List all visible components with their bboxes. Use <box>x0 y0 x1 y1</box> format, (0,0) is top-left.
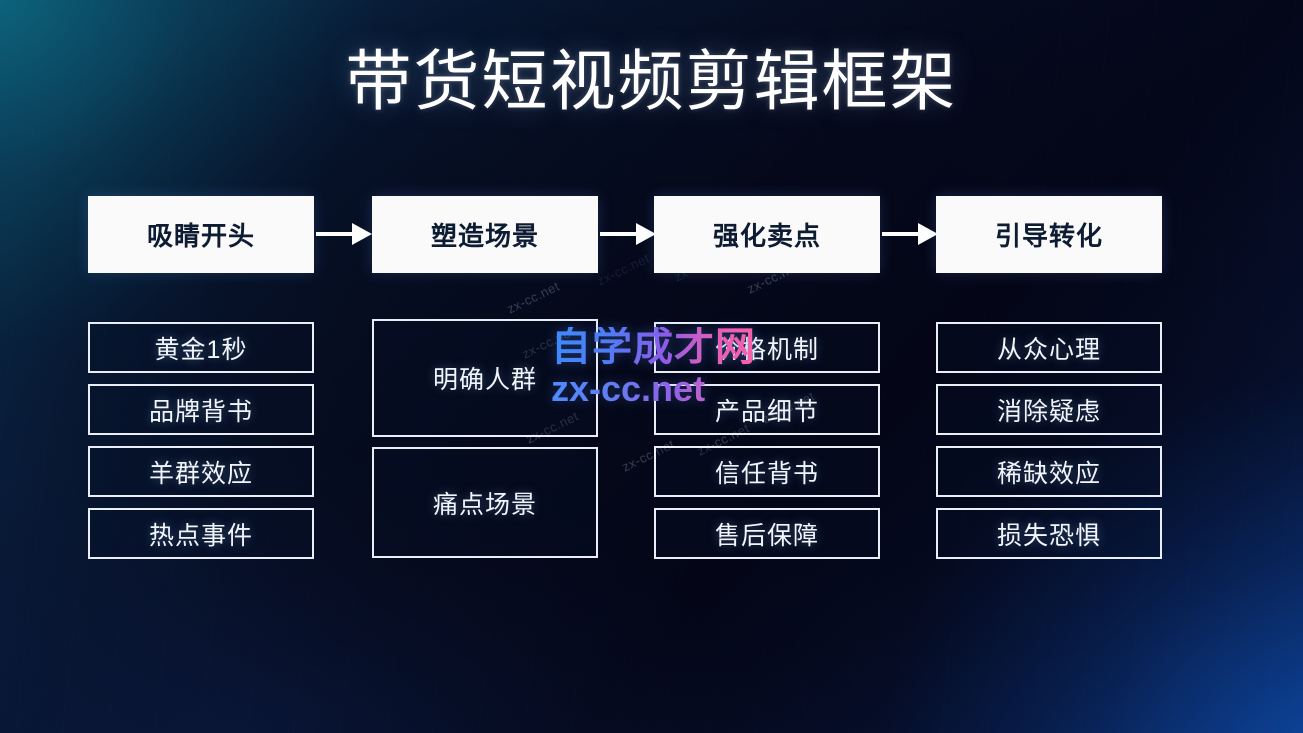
item-label: 羊群效应 <box>149 454 253 490</box>
stage-3-item-2[interactable]: 产品细节 <box>654 384 880 435</box>
stage-header-label: 引导转化 <box>995 216 1103 253</box>
item-label: 明确人群 <box>433 360 537 396</box>
item-label: 热点事件 <box>149 516 253 552</box>
item-label: 品牌背书 <box>149 392 253 428</box>
stage-2-item-2[interactable]: 痛点场景 <box>372 447 598 558</box>
stage-4-item-4[interactable]: 损失恐惧 <box>936 508 1162 559</box>
item-label: 售后保障 <box>715 516 819 552</box>
item-label: 黄金1秒 <box>155 330 248 366</box>
stage-1-item-2[interactable]: 品牌背书 <box>88 384 314 435</box>
arrow-right-icon-1 <box>316 223 372 245</box>
stage-header-2[interactable]: 塑造场景 <box>372 196 598 273</box>
arrow-right-icon-3 <box>882 223 938 245</box>
slide-canvas: zx-cc.net zx-cc.net zx-cc.net zx-cc.net … <box>0 0 1303 733</box>
stage-header-3[interactable]: 强化卖点 <box>654 196 880 273</box>
item-label: 从众心理 <box>997 330 1101 366</box>
stage-header-1[interactable]: 吸睛开头 <box>88 196 314 273</box>
stage-3-item-4[interactable]: 售后保障 <box>654 508 880 559</box>
stage-header-label: 强化卖点 <box>713 216 821 253</box>
stage-2-item-1[interactable]: 明确人群 <box>372 319 598 437</box>
framework-diagram: 吸睛开头 黄金1秒 品牌背书 羊群效应 热点事件 塑造场景 明确人群 痛点场景 <box>0 0 1303 733</box>
stage-3-item-1[interactable]: 价格机制 <box>654 322 880 373</box>
stage-1-item-1[interactable]: 黄金1秒 <box>88 322 314 373</box>
stage-3-item-3[interactable]: 信任背书 <box>654 446 880 497</box>
stage-header-label: 吸睛开头 <box>147 216 255 253</box>
stage-4-item-2[interactable]: 消除疑虑 <box>936 384 1162 435</box>
item-label: 产品细节 <box>715 392 819 428</box>
stage-1-item-3[interactable]: 羊群效应 <box>88 446 314 497</box>
stage-header-label: 塑造场景 <box>431 216 539 253</box>
stage-header-4[interactable]: 引导转化 <box>936 196 1162 273</box>
item-label: 损失恐惧 <box>997 516 1101 552</box>
item-label: 价格机制 <box>715 330 819 366</box>
item-label: 痛点场景 <box>433 485 537 521</box>
item-label: 消除疑虑 <box>997 392 1101 428</box>
item-label: 信任背书 <box>715 454 819 490</box>
stage-4-item-1[interactable]: 从众心理 <box>936 322 1162 373</box>
item-label: 稀缺效应 <box>997 454 1101 490</box>
stage-1-item-4[interactable]: 热点事件 <box>88 508 314 559</box>
arrow-right-icon-2 <box>600 223 656 245</box>
stage-4-item-3[interactable]: 稀缺效应 <box>936 446 1162 497</box>
